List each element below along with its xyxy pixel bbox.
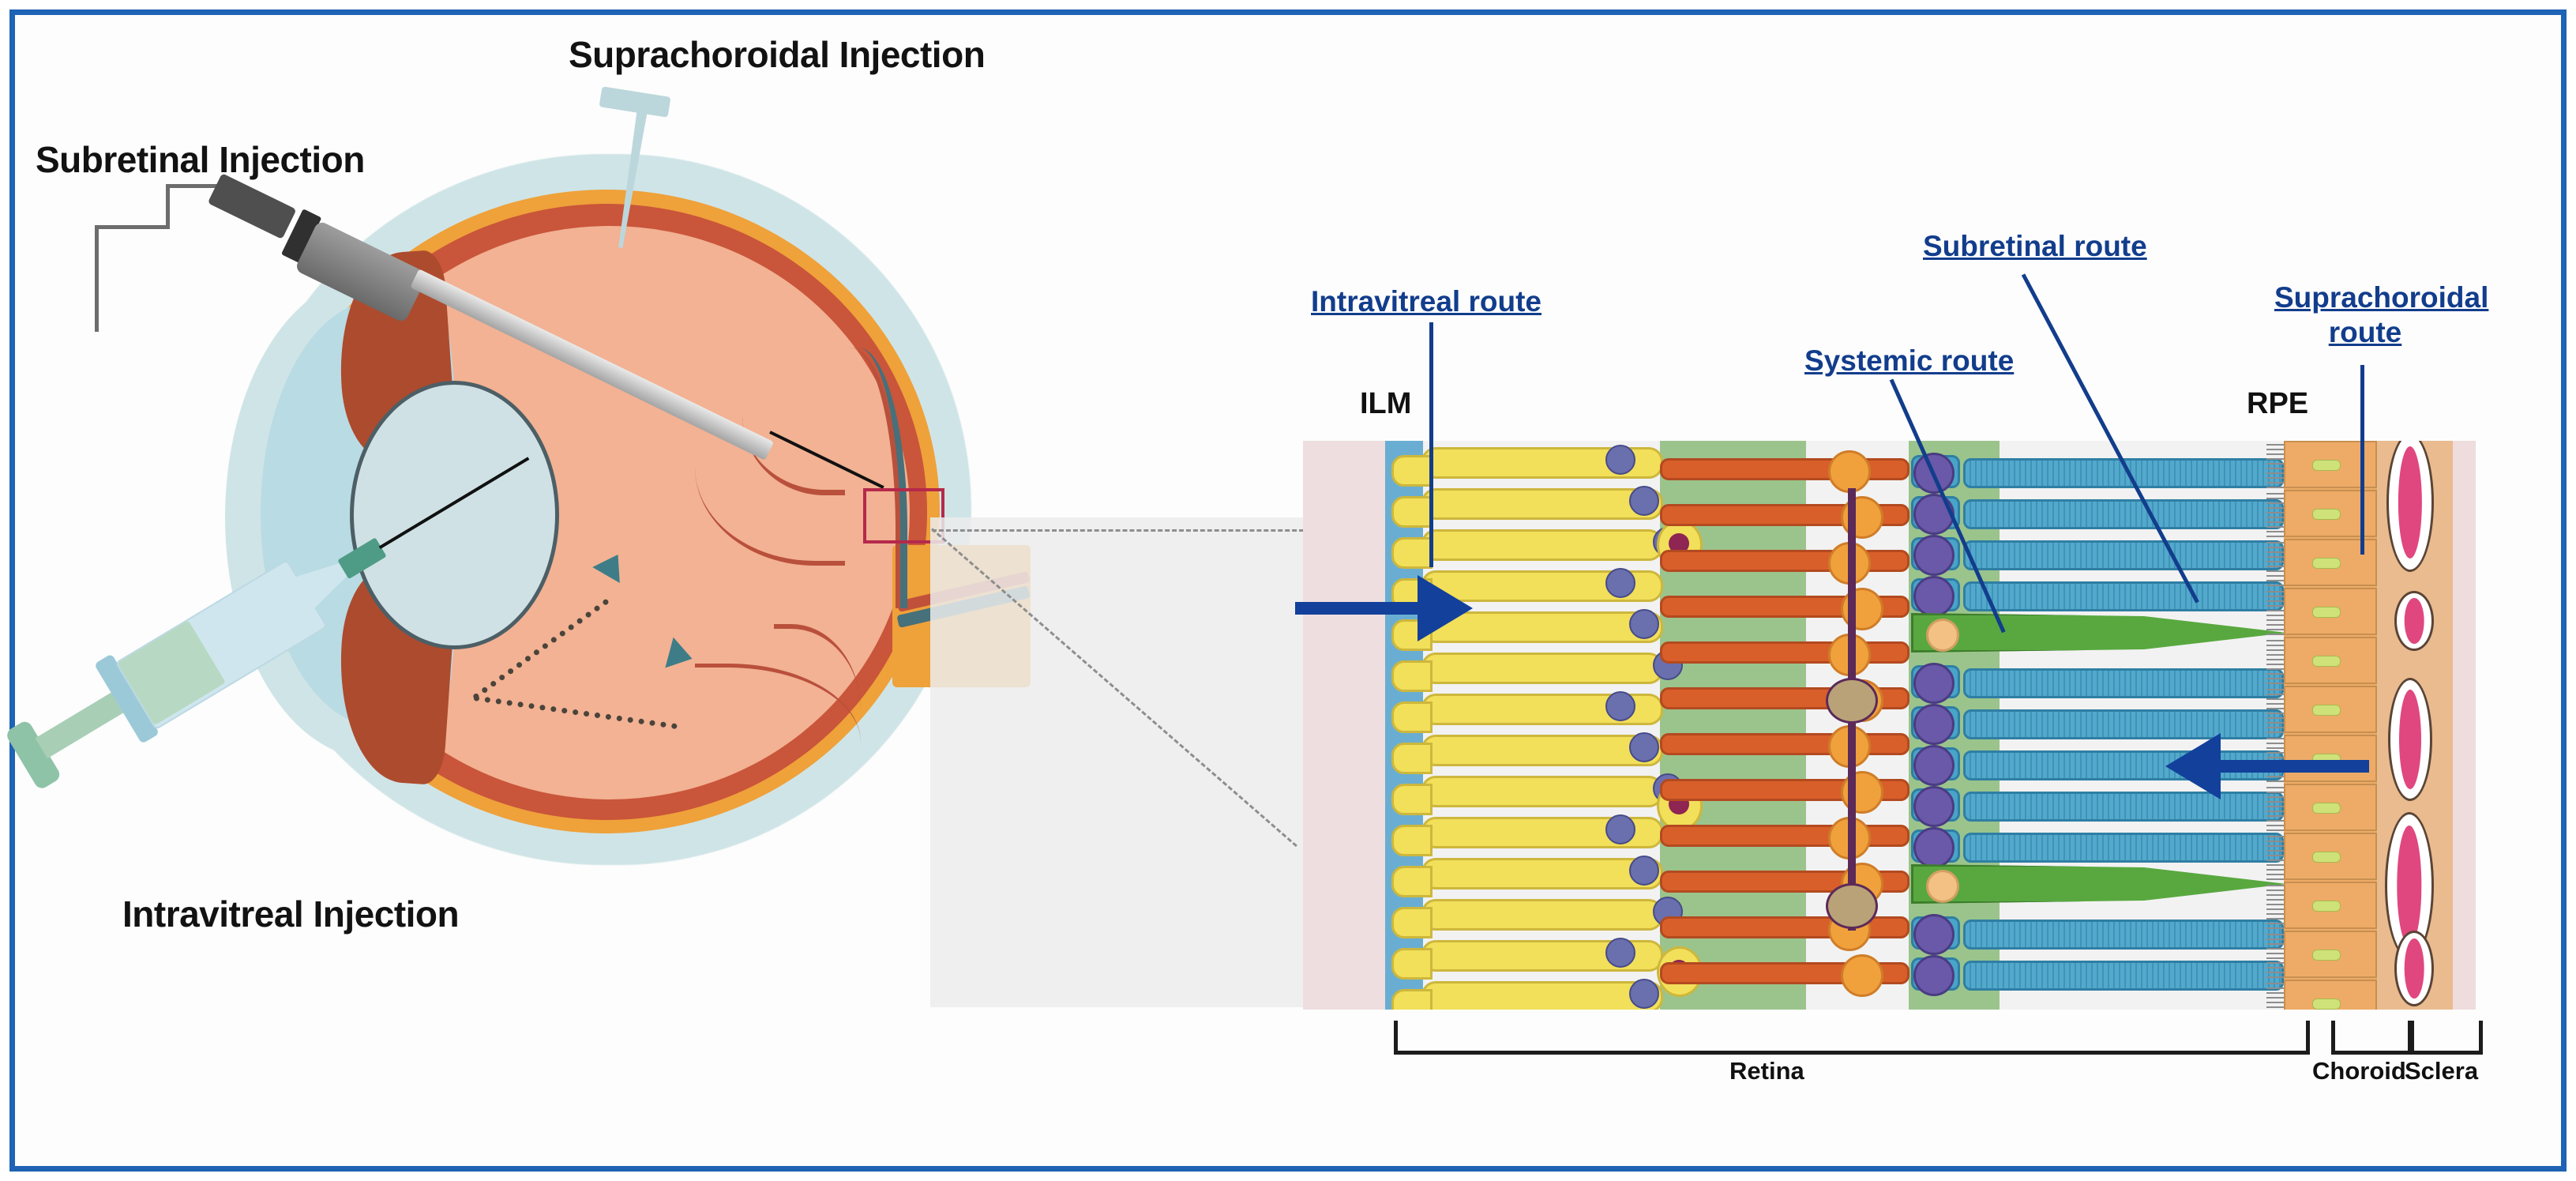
bipolar-cell (1660, 779, 1909, 801)
rpe-microvilli (2266, 542, 2284, 586)
label-subretinal-injection: Subretinal Injection (36, 138, 365, 181)
ganglion-cell (1421, 981, 1663, 1010)
rod-photoreceptor (1911, 537, 1960, 570)
rod-outer-segment (1963, 581, 2284, 611)
ganglion-nucleus (1629, 732, 1659, 762)
ganglion-axon (1391, 907, 1433, 938)
choroid-vessel-lumen (2405, 598, 2424, 645)
rod-outer-segment (1963, 709, 2284, 739)
ganglion-cell (1421, 488, 1663, 520)
ganglion-nucleus (1605, 691, 1635, 721)
rpe-microvilli (2266, 836, 2284, 880)
cannula-tubing (166, 184, 173, 228)
bipolar-cell (1660, 825, 1909, 847)
label-rpe: RPE (2247, 387, 2308, 421)
rod-nucleus (1913, 745, 1955, 786)
rod-photoreceptor (1911, 957, 1960, 991)
rpe-microvilli (2266, 983, 2284, 1010)
rpe-pigment-granule (2312, 558, 2341, 569)
cannula-tubing (95, 225, 102, 332)
rod-outer-segment (1963, 668, 2284, 698)
ganglion-axon (1391, 989, 1433, 1010)
cannula-tubing (166, 184, 221, 188)
rod-photoreceptor (1911, 916, 1960, 950)
ganglion-cell (1421, 899, 1663, 931)
ganglion-axon (1391, 701, 1433, 733)
ganglion-axon (1391, 784, 1433, 815)
rod-photoreceptor (1911, 578, 1960, 611)
label-intravitreal-injection: Intravitreal Injection (122, 893, 459, 935)
ganglion-axon (1391, 455, 1433, 487)
rod-photoreceptor (1911, 706, 1960, 739)
bracket-sclera (2410, 1021, 2483, 1055)
rod-photoreceptor (1911, 747, 1960, 780)
label-subretinal-route: Subretinal route (1923, 229, 2147, 264)
choroid-vessel-lumen (2398, 446, 2422, 559)
arrow-suprachoroidal-head (2165, 733, 2221, 799)
label-intravitreal-route: Intravitreal route (1311, 284, 1541, 319)
cannula-icon (95, 201, 884, 470)
choroid-vessel (2394, 591, 2434, 651)
leader-line-intravitreal (1429, 322, 1433, 567)
bracket-choroid (2331, 1021, 2412, 1055)
bipolar-cell (1660, 641, 1909, 664)
ganglion-axon (1391, 660, 1433, 692)
rpe-pigment-granule (2312, 852, 2341, 863)
ganglion-cell (1421, 858, 1663, 890)
rpe-pigment-granule (2312, 607, 2341, 618)
ganglion-cell (1421, 447, 1663, 479)
label-suprachoroidal-injection: Suprachoroidal Injection (569, 33, 985, 76)
microneedle-flange (599, 86, 671, 117)
rpe-pigment-granule (2312, 460, 2341, 471)
bipolar-cell (1660, 458, 1909, 480)
ganglion-axon (1391, 825, 1433, 856)
bipolar-cell (1660, 504, 1909, 526)
ganglion-cell (1421, 940, 1663, 972)
amacrine-cell (1826, 678, 1878, 724)
rod-nucleus (1913, 535, 1955, 576)
rod-photoreceptor (1911, 829, 1960, 863)
rpe-microvilli (2266, 689, 2284, 733)
syringe-hub (337, 537, 386, 579)
arrow-suprachoroidal-shaft (2219, 760, 2369, 773)
ganglion-nucleus (1629, 856, 1659, 886)
label-retina: Retina (1729, 1057, 1804, 1085)
choroid-vessel-lumen (2397, 826, 2421, 945)
choroid-vessel-lumen (2405, 938, 2424, 999)
cone-nucleus (1926, 870, 1959, 903)
ganglion-cell (1421, 735, 1663, 766)
rpe-microvilli (2266, 885, 2284, 929)
ganglion-nucleus (1605, 814, 1635, 844)
ganglion-axon (1391, 496, 1433, 528)
ganglion-nucleus (1629, 979, 1659, 1009)
rpe-microvilli (2266, 640, 2284, 684)
rod-nucleus (1913, 704, 1955, 745)
rpe-microvilli (2266, 493, 2284, 537)
rod-nucleus (1913, 955, 1955, 996)
choroid-vessel-lumen (2399, 690, 2421, 789)
rod-nucleus (1913, 827, 1955, 868)
bipolar-cell (1660, 596, 1909, 618)
cone-nucleus (1926, 619, 1959, 652)
retinal-layers-panel (1303, 441, 2476, 1010)
rpe-microvilli (2266, 934, 2284, 978)
rod-nucleus (1913, 576, 1955, 617)
bracket-retina (1394, 1021, 2310, 1055)
bipolar-cell (1660, 871, 1909, 893)
cannula-shaft (410, 269, 774, 461)
label-systemic-route: Systemic route (1804, 344, 2014, 378)
label-choroid: Choroid (2312, 1057, 2406, 1085)
vitreous-band (1303, 441, 1385, 1010)
ganglion-axon (1391, 948, 1433, 980)
rod-outer-segment (1963, 540, 2284, 570)
ganglion-nucleus (1605, 938, 1635, 968)
magnifier-cone (930, 517, 1309, 1007)
rod-outer-segment (1963, 792, 2284, 822)
choroid-vessel (2388, 678, 2432, 801)
amacrine-cell (1826, 883, 1878, 929)
magnifier-guide-line (932, 529, 1311, 532)
ganglion-cell (1421, 529, 1663, 561)
rpe-pigment-granule (2312, 656, 2341, 667)
sclera-band (2453, 441, 2476, 1010)
rpe-pigment-granule (2312, 999, 2341, 1010)
ganglion-nucleus (1629, 486, 1659, 516)
label-ilm: ILM (1360, 387, 1411, 421)
ganglion-axon (1391, 743, 1433, 774)
arrow-intravitreal-shaft (1295, 602, 1425, 615)
bipolar-cell (1660, 550, 1909, 572)
rod-outer-segment (1963, 833, 2284, 863)
ganglion-axon (1391, 866, 1433, 897)
cannula-tubing (95, 225, 170, 229)
cannula-hub (208, 173, 297, 239)
ganglion-nucleus (1605, 568, 1635, 598)
rod-outer-segment (1963, 920, 2284, 950)
rod-nucleus (1913, 786, 1955, 827)
rod-nucleus (1913, 663, 1955, 704)
rpe-pigment-granule (2312, 901, 2341, 912)
leader-line-suprachoroidal (2360, 365, 2364, 555)
bipolar-nucleus (1828, 450, 1871, 493)
cannula-grip (295, 220, 429, 324)
rod-outer-segment (1963, 499, 2284, 529)
rpe-microvilli (2266, 787, 2284, 831)
rpe-pigment-granule (2312, 509, 2341, 520)
rpe-microvilli (2266, 591, 2284, 635)
rpe-pigment-granule (2312, 803, 2341, 814)
bipolar-cell (1660, 733, 1909, 755)
ganglion-nucleus (1605, 445, 1635, 475)
rod-nucleus (1913, 914, 1955, 955)
bipolar-nucleus (1841, 954, 1883, 997)
rod-outer-segment (1963, 961, 2284, 991)
ganglion-nucleus (1629, 609, 1659, 639)
rpe-pigment-granule (2312, 705, 2341, 716)
ganglion-cell (1421, 776, 1663, 807)
rpe-pigment-granule (2312, 950, 2341, 961)
figure-canvas: Suprachoroidal Injection Subretinal Inje… (0, 0, 2576, 1181)
rod-photoreceptor (1911, 788, 1960, 822)
ganglion-axon (1391, 537, 1433, 569)
ganglion-cell (1421, 653, 1663, 684)
rod-photoreceptor (1911, 665, 1960, 698)
label-sclera: Sclera (2405, 1057, 2478, 1085)
ganglion-cell (1421, 694, 1663, 725)
label-suprachoroidal-route: Suprachoroidal route (2274, 280, 2456, 350)
ganglion-cell (1421, 817, 1663, 848)
rpe-microvilli (2266, 444, 2284, 488)
choroid-vessel (2394, 931, 2434, 1006)
arrow-intravitreal-head (1418, 575, 1473, 641)
bipolar-cell (1660, 962, 1909, 984)
